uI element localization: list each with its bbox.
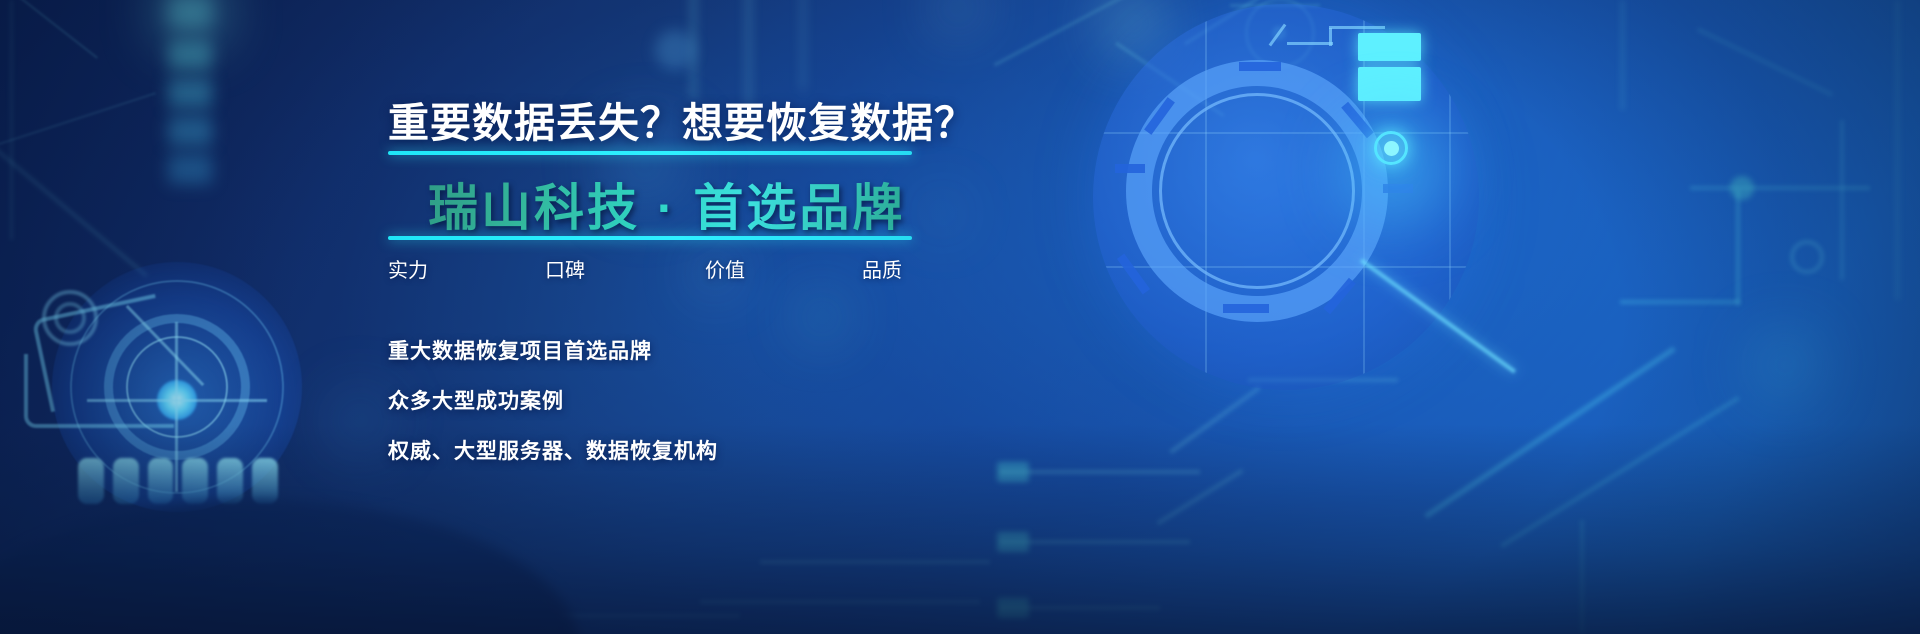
brand-slogan: 瑞山科技 · 首选品牌 bbox=[428, 168, 905, 240]
feature-list: 重大数据恢复项目首选品牌 众多大型成功案例 权威、大型服务器、数据恢复机构 bbox=[388, 335, 718, 465]
keyword-row: 实力 口碑 价值 品质 bbox=[388, 254, 928, 284]
page-title: 重要数据丢失？想要恢复数据？ bbox=[388, 89, 976, 149]
list-item: 众多大型成功案例 bbox=[388, 385, 718, 415]
keyword-value: 价值 bbox=[705, 254, 745, 283]
list-item: 重大数据恢复项目首选品牌 bbox=[388, 335, 718, 365]
divider-bottom bbox=[388, 236, 912, 240]
keyword-quality: 品质 bbox=[862, 254, 902, 283]
divider-top bbox=[388, 151, 912, 155]
keyword-strength: 实力 bbox=[388, 254, 428, 283]
list-item: 权威、大型服务器、数据恢复机构 bbox=[388, 435, 718, 465]
banner-content: 重要数据丢失？想要恢复数据？ 瑞山科技 · 首选品牌 实力 口碑 价值 品质 重… bbox=[388, 0, 1148, 634]
promo-banner: 重要数据丢失？想要恢复数据？ 瑞山科技 · 首选品牌 实力 口碑 价值 品质 重… bbox=[0, 0, 1920, 634]
keyword-reputation: 口碑 bbox=[545, 254, 585, 283]
